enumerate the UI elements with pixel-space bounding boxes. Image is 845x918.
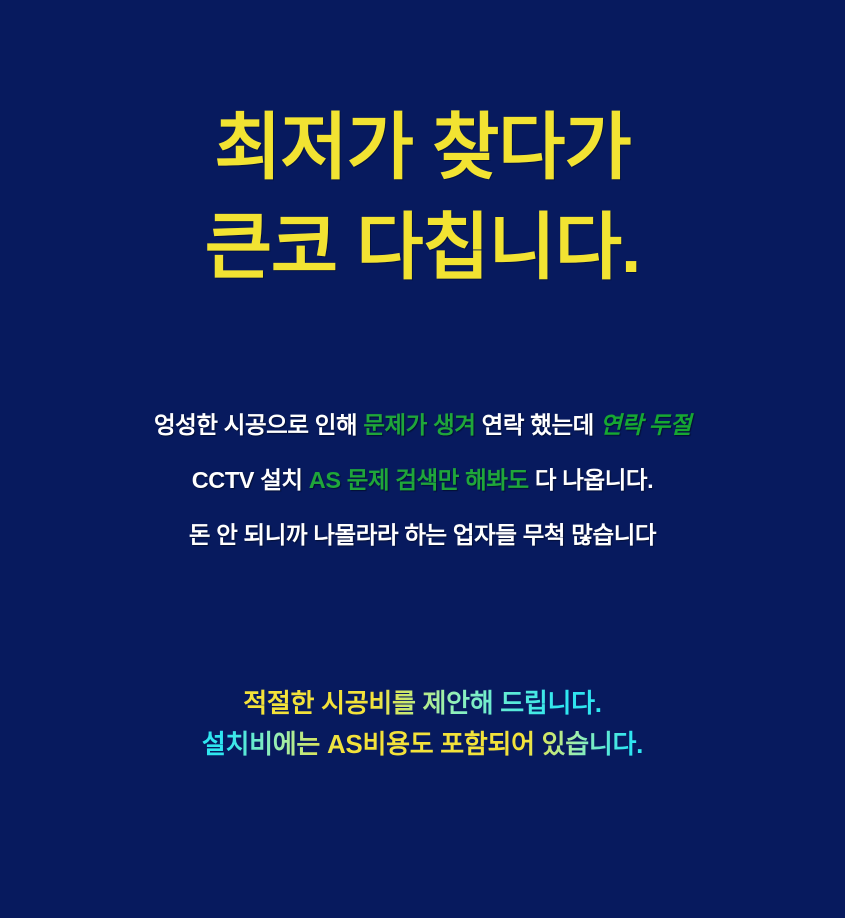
headline-line-2: 큰코 다칩니다. (0, 198, 845, 298)
body-copy-block: 엉성한 시공으로 인해 문제가 생겨 연락 했는데 연락 두절 CCTV 설치 … (0, 398, 845, 563)
body-line-2-part-1: CCTV 설치 (192, 467, 309, 493)
promo-poster: 최저가 찾다가 큰코 다칩니다. 엉성한 시공으로 인해 문제가 생겨 연락 했… (0, 0, 845, 918)
headline-line-1: 최저가 찾다가 (0, 98, 845, 198)
body-line-1-highlight-green-italic: 연락 두절 (600, 412, 691, 438)
body-line-1-highlight-green: 문제가 생겨 (363, 412, 475, 438)
footer-line-2: 설치비에는 AS비용도 포함되어 있습니다. (0, 724, 845, 765)
body-line-2-part-3: 다 나옵니다. (529, 467, 654, 493)
body-line-1-part-1: 엉성한 시공으로 인해 (154, 412, 363, 438)
body-line-2: CCTV 설치 AS 문제 검색만 해봐도 다 나옵니다. (0, 453, 845, 508)
body-line-3: 돈 안 되니까 나몰라라 하는 업자들 무척 많습니다 (0, 508, 845, 563)
body-line-1: 엉성한 시공으로 인해 문제가 생겨 연락 했는데 연락 두절 (0, 398, 845, 453)
footer-block: 적절한 시공비를 제안해 드립니다. 설치비에는 AS비용도 포함되어 있습니다… (0, 683, 845, 765)
footer-line-1: 적절한 시공비를 제안해 드립니다. (0, 683, 845, 724)
body-line-2-highlight-green: AS 문제 검색만 해봐도 (309, 467, 529, 493)
headline-block: 최저가 찾다가 큰코 다칩니다. (0, 98, 845, 298)
body-line-1-part-3: 연락 했는데 (476, 412, 601, 438)
